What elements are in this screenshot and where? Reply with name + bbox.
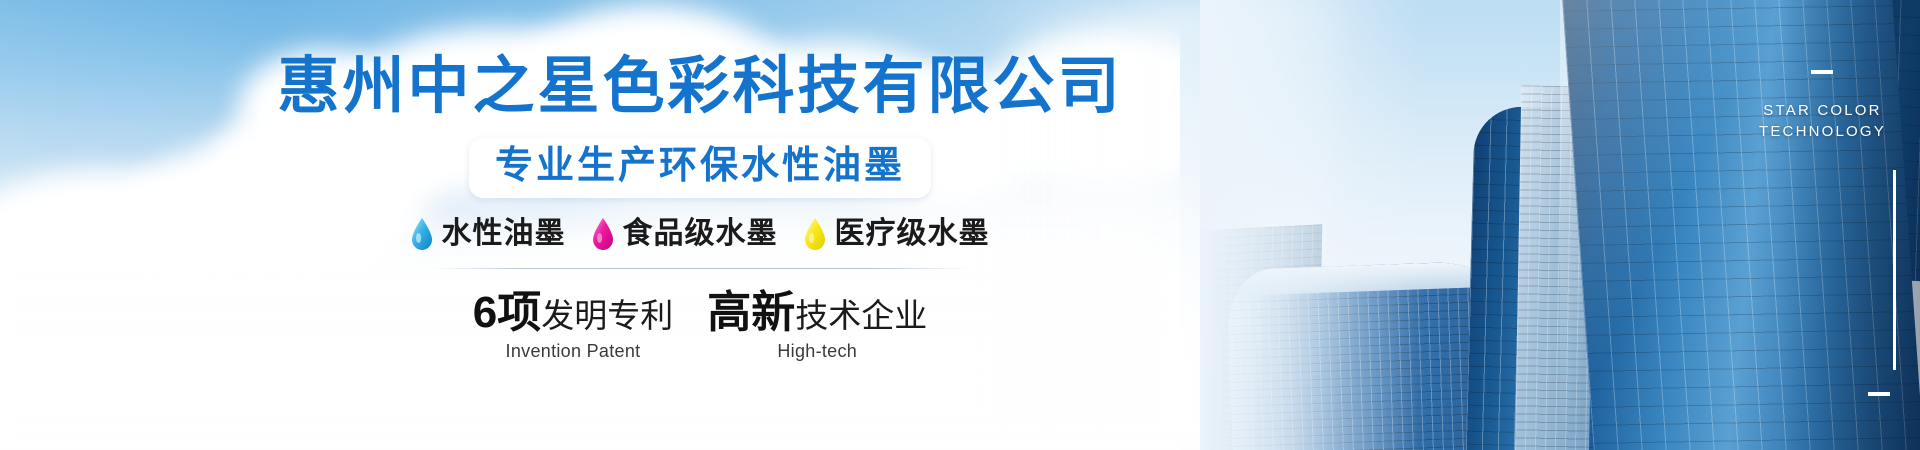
badge-rest-text: 技术企业 xyxy=(795,297,927,334)
credential-badges: 6项发明专利 Invention Patent 高新技术企业 High-tech xyxy=(473,291,927,360)
badge-english-text: High-tech xyxy=(707,342,927,360)
brand-logo: STAR COLOR TECHNOLOGY xyxy=(1759,70,1886,142)
feature-label: 医疗级水墨 xyxy=(835,219,990,249)
badge-rest-text: 发明专利 xyxy=(541,297,673,334)
feature-label: 食品级水墨 xyxy=(623,219,778,249)
logo-vertical-rule xyxy=(1893,170,1896,370)
badge-strong-text: 高新 xyxy=(707,288,795,337)
feature-list: 水性油墨 食品级水墨 xyxy=(411,218,990,250)
building-main-foreground xyxy=(1562,0,1920,450)
section-divider xyxy=(430,268,970,269)
feature-item: 水性油墨 xyxy=(411,218,566,250)
water-drop-icon xyxy=(804,218,826,250)
water-drop-icon xyxy=(592,218,614,250)
company-banner: Star Color STAR COLOR TECHNOLOGY xyxy=(0,0,1920,450)
water-drop-icon xyxy=(411,218,433,250)
feature-label: 水性油墨 xyxy=(442,219,566,249)
badge-english-text: Invention Patent xyxy=(473,342,673,360)
logo-line-1: STAR COLOR xyxy=(1759,100,1886,121)
badge-chinese-line: 6项发明专利 xyxy=(473,291,673,335)
banner-content: 惠州中之星色彩科技有限公司 专业生产环保水性油墨 水性油 xyxy=(0,0,1400,450)
badge-invention-patent: 6项发明专利 Invention Patent xyxy=(473,291,673,360)
badge-strong-text: 6项 xyxy=(473,288,541,337)
logo-dash-icon xyxy=(1811,70,1833,74)
feature-item: 食品级水墨 xyxy=(592,218,778,250)
badge-chinese-line: 高新技术企业 xyxy=(707,291,927,335)
feature-item: 医疗级水墨 xyxy=(804,218,990,250)
subtitle-text: 专业生产环保水性油墨 xyxy=(495,147,905,187)
page-title: 惠州中之星色彩科技有限公司 xyxy=(277,56,1122,118)
logo-line-2: TECHNOLOGY xyxy=(1759,121,1886,142)
logo-dash-bottom-icon xyxy=(1868,392,1890,396)
badge-high-tech: 高新技术企业 High-tech xyxy=(707,291,927,360)
subtitle-pill: 专业生产环保水性油墨 xyxy=(469,138,931,198)
